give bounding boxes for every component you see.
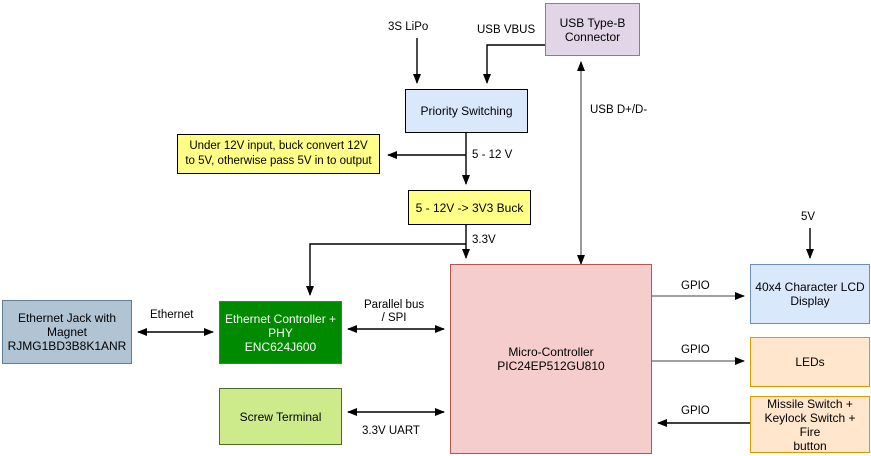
label-3v3: 3.3V (472, 234, 496, 247)
label-usb-data: USB D+/D- (590, 104, 647, 117)
ethernet-jack-line2: Magnet (6, 325, 128, 339)
node-3v3-buck[interactable]: 5 - 12V -> 3V3 Buck (408, 190, 531, 225)
node-usb-type-b-connector[interactable]: USB Type-B Connector (545, 3, 640, 56)
priority-switching-label: Priority Switching (409, 104, 524, 118)
leds-label: LEDs (754, 355, 866, 369)
label-5v: 5V (801, 211, 815, 224)
label-parallel-bus-spi: Parallel bus / SPI (364, 299, 424, 325)
lcd-line1: 40x4 Character LCD (754, 280, 866, 294)
label-3v3-uart: 3.3V UART (362, 425, 420, 438)
label-parallel-bus-line1: Parallel bus (364, 299, 424, 312)
label-5-12v: 5 - 12 V (472, 149, 512, 162)
connector-layer (0, 0, 871, 456)
lcd-line2: Display (754, 294, 866, 308)
edge-vbus-to-priority (487, 45, 545, 83)
ethernet-phy-line3: ENC624J600 (223, 340, 338, 354)
ethernet-jack-line3: RJMG1BD3B8K1ANR (6, 339, 128, 353)
node-priority-switching[interactable]: Priority Switching (405, 89, 528, 133)
node-ethernet-jack[interactable]: Ethernet Jack with Magnet RJMG1BD3B8K1AN… (2, 300, 132, 364)
switches-line2: Keylock Switch + Fire (754, 411, 866, 439)
label-ethernet: Ethernet (150, 309, 193, 322)
label-gpio-switches: GPIO (681, 405, 710, 418)
node-screw-terminal[interactable]: Screw Terminal (219, 388, 342, 445)
block-diagram-canvas: USB Type-B Connector Priority Switching … (0, 0, 871, 456)
switches-line3: button (754, 439, 866, 453)
node-microcontroller[interactable]: Micro-Controller PIC24EP512GU810 (450, 264, 652, 454)
node-ethernet-controller-phy[interactable]: Ethernet Controller + PHY ENC624J600 (219, 301, 342, 364)
label-3s-lipo: 3S LiPo (388, 21, 428, 34)
usb-connector-line2: Connector (549, 30, 636, 44)
microcontroller-line2: PIC24EP512GU810 (454, 359, 648, 373)
screw-terminal-label: Screw Terminal (223, 410, 338, 424)
buck-note-line2: to 5V, otherwise pass 5V in to output (181, 154, 376, 169)
node-leds[interactable]: LEDs (750, 337, 870, 387)
node-buck-note: Under 12V input, buck convert 12V to 5V,… (177, 134, 380, 174)
node-switches[interactable]: Missile Switch + Keylock Switch + Fire b… (750, 396, 870, 453)
ethernet-phy-line1: Ethernet Controller + (223, 312, 338, 326)
ethernet-jack-line1: Ethernet Jack with (6, 311, 128, 325)
label-gpio-leds: GPIO (681, 344, 710, 357)
switches-line1: Missile Switch + (754, 397, 866, 411)
buck-note-line1: Under 12V input, buck convert 12V (181, 139, 376, 154)
buck-3v3-label: 5 - 12V -> 3V3 Buck (412, 201, 527, 215)
usb-connector-line1: USB Type-B (549, 16, 636, 30)
label-gpio-lcd: GPIO (681, 280, 710, 293)
node-lcd-display[interactable]: 40x4 Character LCD Display (750, 264, 870, 324)
microcontroller-line1: Micro-Controller (454, 345, 648, 359)
edge-buck-to-phy (310, 244, 466, 295)
ethernet-phy-line2: PHY (223, 326, 338, 340)
label-usb-vbus: USB VBUS (477, 24, 535, 37)
label-parallel-bus-line2: / SPI (364, 312, 424, 325)
